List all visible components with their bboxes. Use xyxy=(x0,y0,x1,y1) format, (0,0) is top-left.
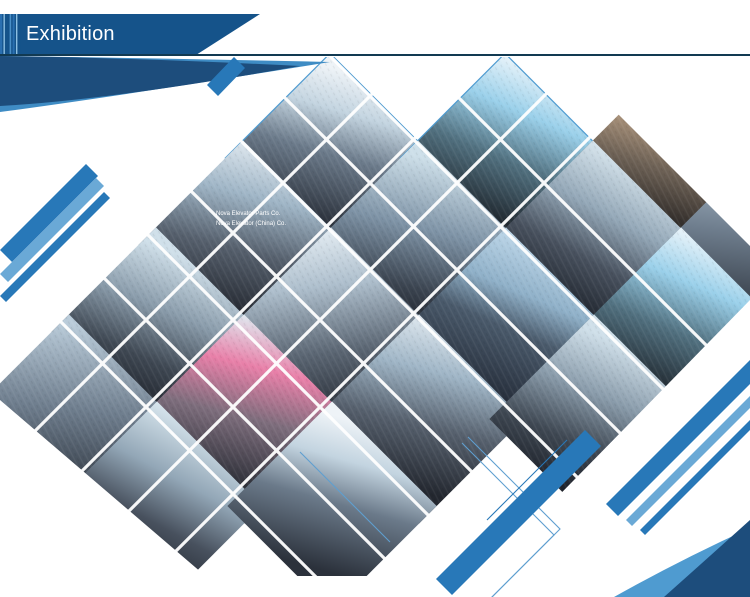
diagonal-stripes-right xyxy=(606,360,750,535)
page-title: Exhibition xyxy=(26,14,115,55)
header-rule xyxy=(0,54,750,56)
diagonal-stripes-left xyxy=(0,164,110,302)
header-banner: Exhibition xyxy=(0,14,260,55)
decorations xyxy=(0,0,750,597)
exhibition-banner-page: Nova Elevator Parts Co. Nova Elevator (C… xyxy=(0,0,750,597)
